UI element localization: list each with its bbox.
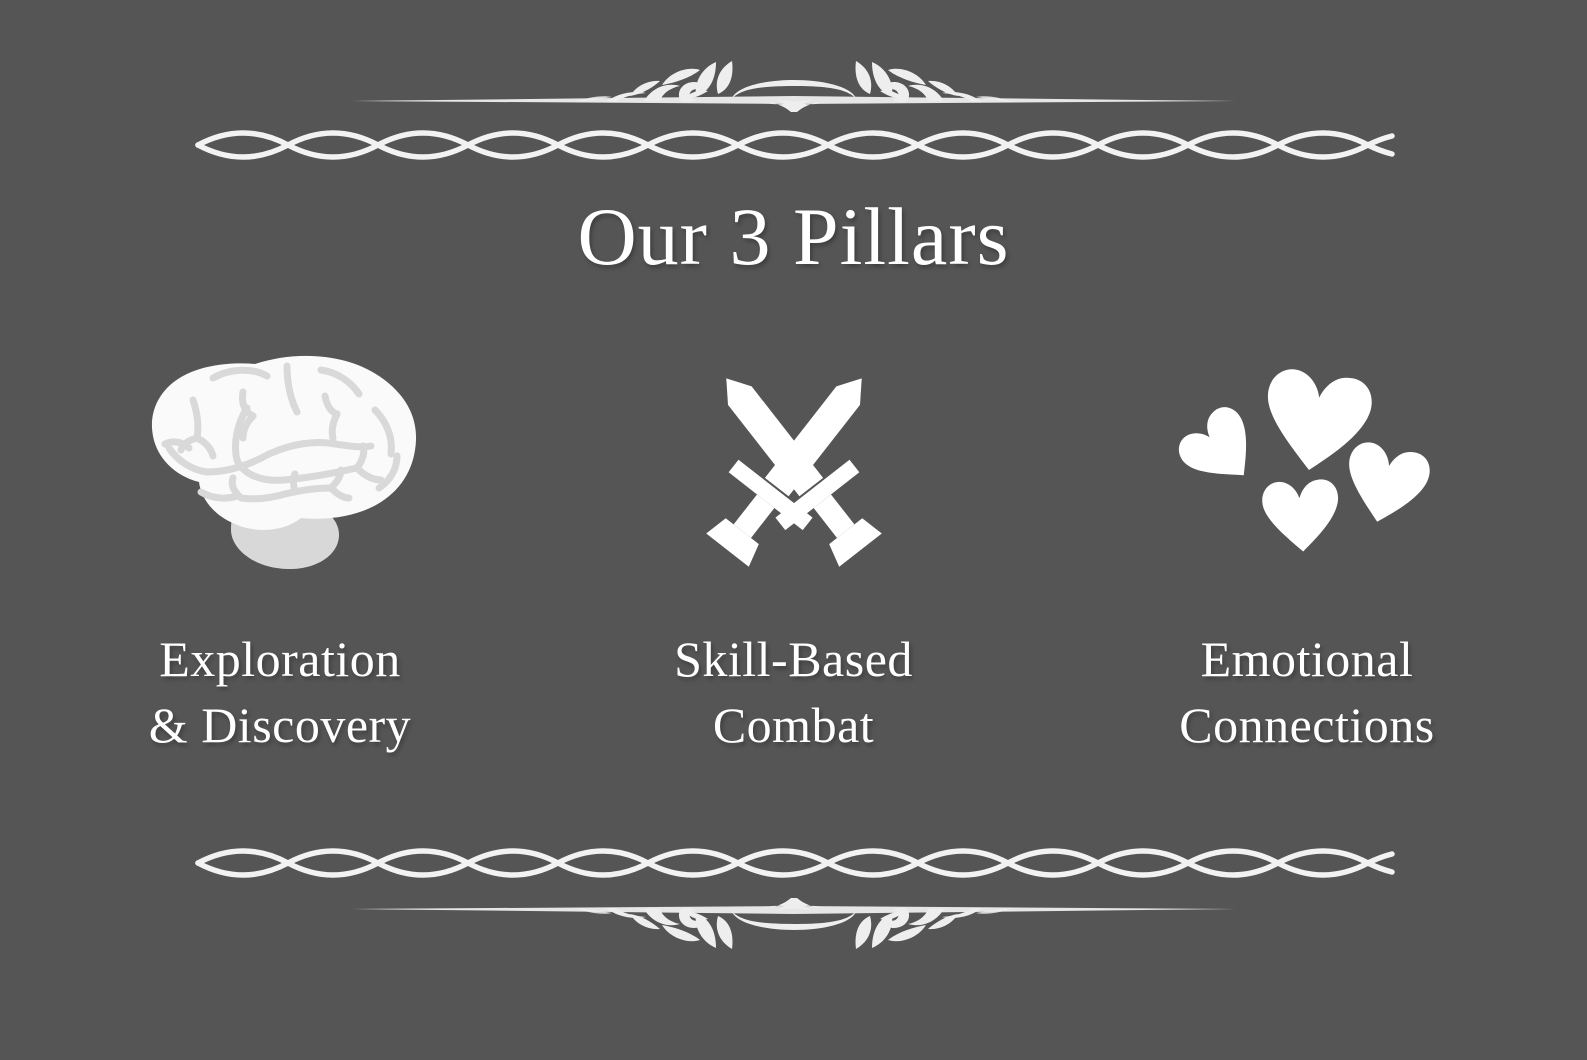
pillar-exploration[interactable]: Exploration & Discovery bbox=[70, 340, 490, 758]
pillar-label-line1: Skill-Based bbox=[674, 626, 913, 692]
pillar-label-line2: & Discovery bbox=[149, 692, 411, 758]
pillar-label-line2: Combat bbox=[674, 692, 913, 758]
pillar-label-line1: Exploration bbox=[149, 626, 411, 692]
pillar-connections[interactable]: Emotional Connections bbox=[1097, 340, 1517, 758]
pillar-label: Emotional Connections bbox=[1179, 626, 1434, 758]
pillar-label: Exploration & Discovery bbox=[149, 626, 411, 758]
brain-icon bbox=[120, 340, 440, 590]
top-braid-divider bbox=[184, 127, 1404, 163]
pillar-label-line2: Connections bbox=[1179, 692, 1434, 758]
crossed-swords-icon bbox=[634, 340, 954, 590]
four-hearts-icon bbox=[1147, 340, 1467, 590]
pillars-row: Exploration & Discovery bbox=[70, 340, 1517, 758]
top-floral-divider bbox=[344, 52, 1244, 112]
pillar-combat[interactable]: Skill-Based Combat bbox=[584, 340, 1004, 758]
pillar-label: Skill-Based Combat bbox=[674, 626, 913, 758]
page-title: Our 3 Pillars bbox=[0, 196, 1587, 278]
bottom-floral-divider bbox=[344, 898, 1244, 958]
pillar-label-line1: Emotional bbox=[1179, 626, 1434, 692]
slide-canvas: Our 3 Pillars bbox=[0, 0, 1587, 1060]
bottom-braid-divider bbox=[184, 845, 1404, 881]
